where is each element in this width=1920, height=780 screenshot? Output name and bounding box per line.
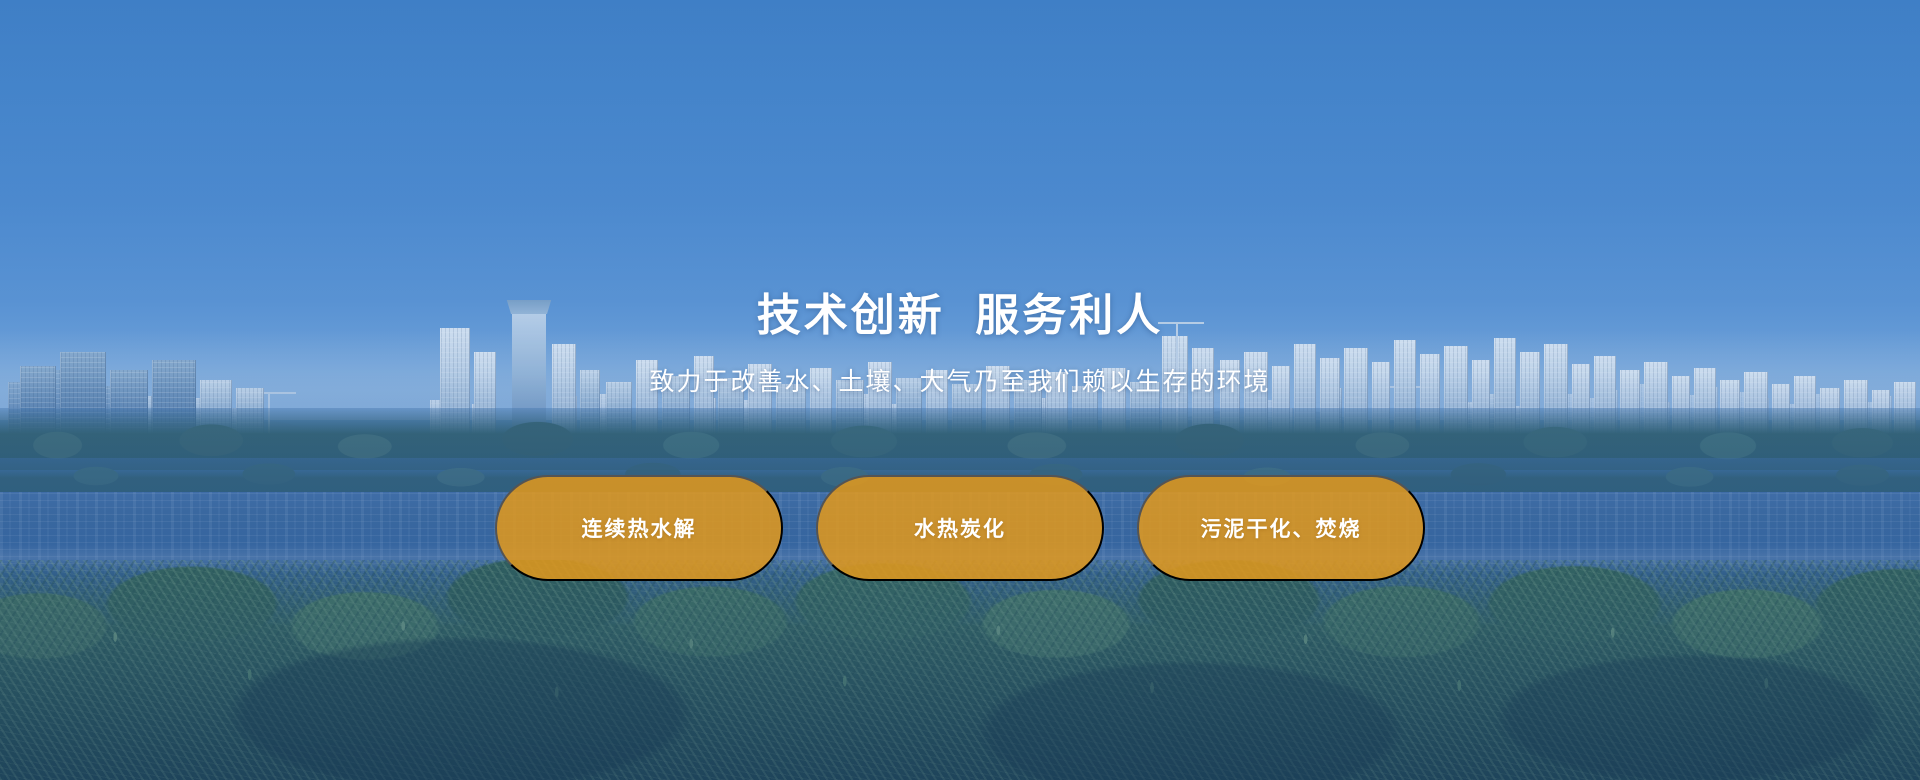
hero-headline: 技术创新 服务利人: [0, 294, 1920, 338]
hero-button-sludge-drying-incineration[interactable]: 污泥干化、焚烧: [1137, 475, 1425, 581]
hero-button-row: 连续热水解 水热炭化 污泥干化、焚烧: [0, 475, 1920, 581]
hero-subheadline: 致力于改善水、土壤、大气乃至我们赖以生存的环境: [0, 370, 1920, 395]
hero-content: 技术创新 服务利人 致力于改善水、土壤、大气乃至我们赖以生存的环境 连续热水解 …: [0, 0, 1920, 780]
hero-button-continuous-thermal-hydrolysis[interactable]: 连续热水解: [495, 475, 783, 581]
hero-button-hydrothermal-carbonization[interactable]: 水热炭化: [816, 475, 1104, 581]
hero-banner: 技术创新 服务利人 致力于改善水、土壤、大气乃至我们赖以生存的环境 连续热水解 …: [0, 0, 1920, 780]
